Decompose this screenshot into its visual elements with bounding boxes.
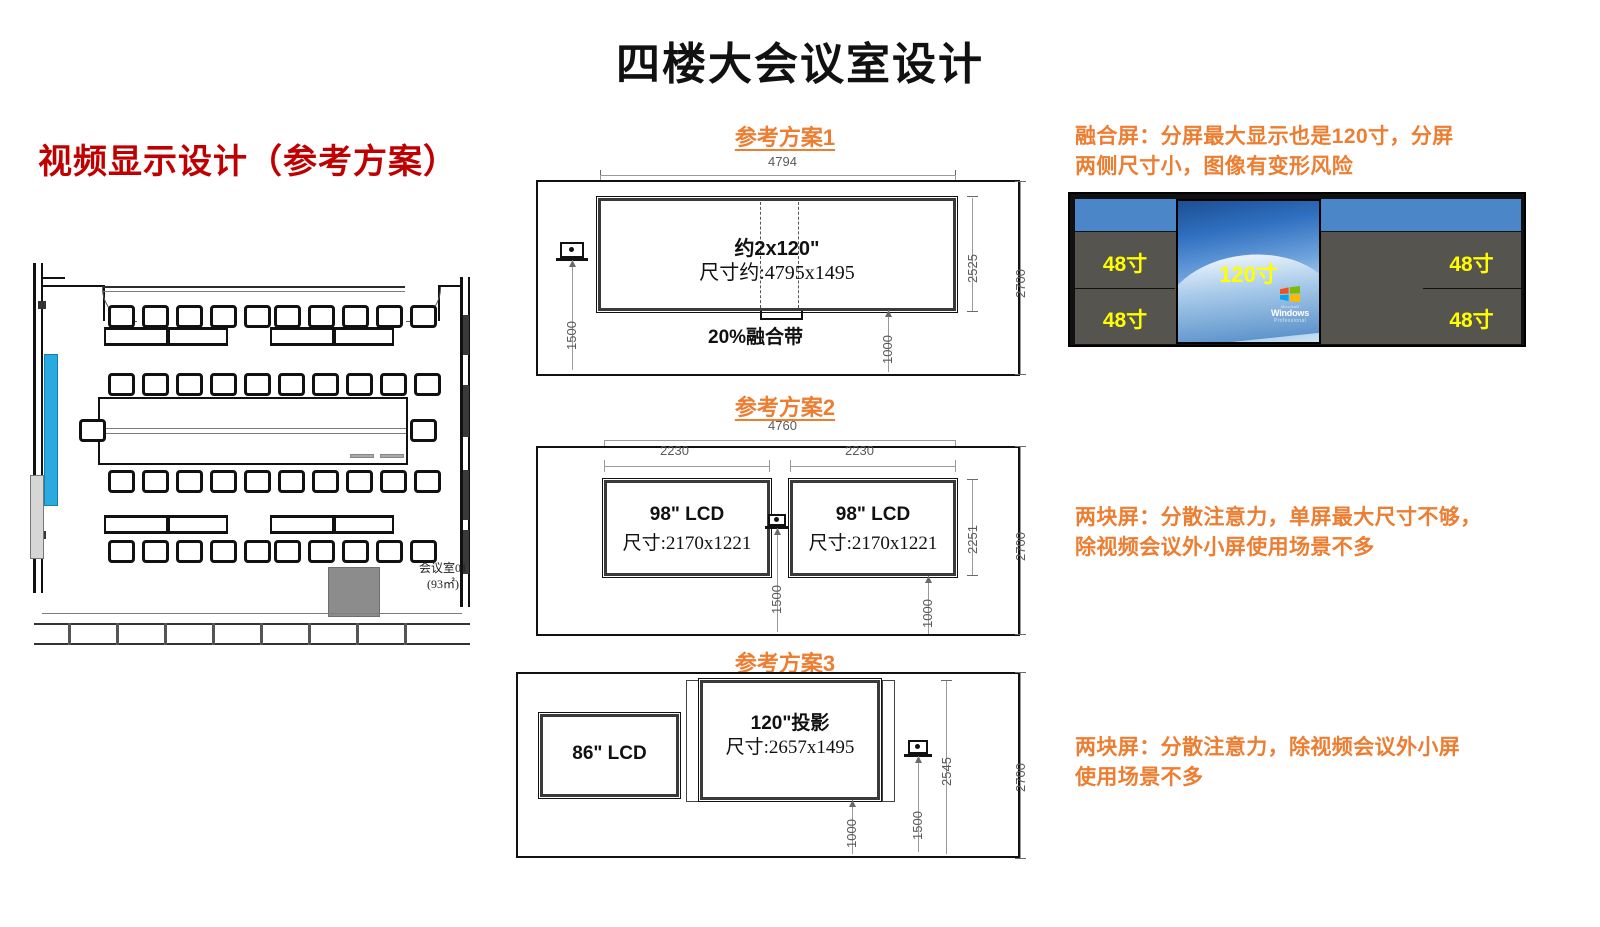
screen-wall-strip <box>44 354 58 506</box>
panel-top-right: 48寸 <box>1422 232 1521 288</box>
dim-width-total-2: 4760 <box>768 418 797 433</box>
dim-bottom-height-3: 1000 <box>844 819 859 848</box>
dim-width-right-2: 2230 <box>845 443 874 458</box>
lcd-right-label-line2: 尺寸:2170x1221 <box>786 528 960 555</box>
dim-camera-height-3: 1500 <box>910 811 925 840</box>
note-2-line1: 两块屏：分散注意力，单屏最大尺寸不够， <box>1075 503 1555 533</box>
lcd-left-label-line1: 98" LCD <box>604 504 770 526</box>
note-3: 两块屏：分散注意力，除视频会议外小屏 使用场景不多 <box>1075 733 1555 794</box>
note-2-line2: 除视频会议外小屏使用场景不多 <box>1075 533 1555 563</box>
panel-bottom-left: 48寸 <box>1075 289 1175 344</box>
note-1-line2: 两侧尺寸小，图像有变形风险 <box>1075 152 1545 182</box>
panel-bottom-left-label: 48寸 <box>1075 304 1175 334</box>
dim-width-left-2: 2230 <box>660 443 689 458</box>
windows-flag-icon <box>1279 286 1301 303</box>
room-area: (93㎡) <box>398 576 488 592</box>
dim-camera-height-1: 1500 <box>564 321 579 350</box>
scheme-3-drawing: 86" LCD 120"投影 尺寸:2657x1495 1500 1000 25… <box>516 672 1036 862</box>
note-2: 两块屏：分散注意力，单屏最大尺寸不够， 除视频会议外小屏使用场景不多 <box>1075 503 1555 564</box>
room-label: 会议室01 (93㎡) <box>398 560 488 592</box>
camera-icon-3 <box>908 740 928 754</box>
fusion-band-label: 20%融合带 <box>708 322 803 349</box>
panel-top-left: 48寸 <box>1075 232 1175 288</box>
dim-screen-height-3: 2545 <box>939 757 954 786</box>
equipment-block <box>328 567 380 617</box>
room-name: 会议室01 <box>398 560 488 576</box>
dim-bottom-height-1: 1000 <box>880 335 895 364</box>
lcd-86-label: 86" LCD <box>540 743 679 765</box>
windows-logo: Microsoft Windows Professional <box>1271 286 1309 324</box>
note-3-line2: 使用场景不多 <box>1075 763 1555 793</box>
note-1-line1: 融合屏：分屏最大显示也是120寸，分屏 <box>1075 122 1545 152</box>
dim-screen-height-2: 2251 <box>965 525 980 554</box>
dim-room-height-2: 2700 <box>1013 532 1028 561</box>
lcd-left-label-line2: 尺寸:2170x1221 <box>600 528 774 555</box>
page-title: 四楼大会议室设计 <box>0 28 1600 92</box>
screen-label-line2: 尺寸约:4795x1495 <box>598 256 956 285</box>
note-3-line1: 两块屏：分散注意力，除视频会议外小屏 <box>1075 733 1555 763</box>
camera-icon-2 <box>768 514 786 526</box>
dim-camera-height-2: 1500 <box>769 585 784 614</box>
floor-plan-drawing: 会议室01 (93㎡) <box>28 255 488 655</box>
projection-label-line2: 尺寸:2657x1495 <box>696 732 884 759</box>
camera-icon-1 <box>560 242 584 258</box>
fusion-display-mockup: 48寸 48寸 48寸 48寸 120寸 Microsoft Windows P… <box>1068 192 1526 347</box>
dim-room-height-3: 2700 <box>1013 763 1028 792</box>
dim-screen-height-1: 2525 <box>965 254 980 283</box>
dim-room-height-1: 2700 <box>1013 269 1028 298</box>
panel-bottom-right-label: 48寸 <box>1422 304 1521 334</box>
note-1: 融合屏：分屏最大显示也是120寸，分屏 两侧尺寸小，图像有变形风险 <box>1075 122 1545 183</box>
projection-label-line1: 120"投影 <box>700 708 880 735</box>
dim-width-total-1: 4794 <box>768 154 797 169</box>
center-screen: 120寸 Microsoft Windows Professional <box>1176 199 1321 344</box>
video-display-design-heading: 视频显示设计（参考方案） <box>38 134 508 183</box>
windows-brand-text: Windows <box>1271 309 1309 318</box>
panel-top-right-label: 48寸 <box>1422 248 1521 278</box>
panel-top-left-label: 48寸 <box>1075 248 1175 278</box>
center-screen-label: 120寸 <box>1178 257 1319 289</box>
panel-bottom-right: 48寸 <box>1422 289 1521 344</box>
windows-edition-text: Professional <box>1271 318 1309 324</box>
lcd-right-label-line1: 98" LCD <box>790 504 956 526</box>
scheme-1-title: 参考方案1 <box>570 120 1000 152</box>
scheme-2-drawing: 4760 2230 2230 98" LCD 尺寸:2170x1221 98" … <box>520 418 1040 640</box>
fusion-band-bracket <box>760 311 803 320</box>
dim-bottom-height-2: 1000 <box>920 599 935 628</box>
scheme-1-drawing: 4794 约2x120" 尺寸约:4795x1495 20%融合带 1500 1… <box>520 150 1040 380</box>
